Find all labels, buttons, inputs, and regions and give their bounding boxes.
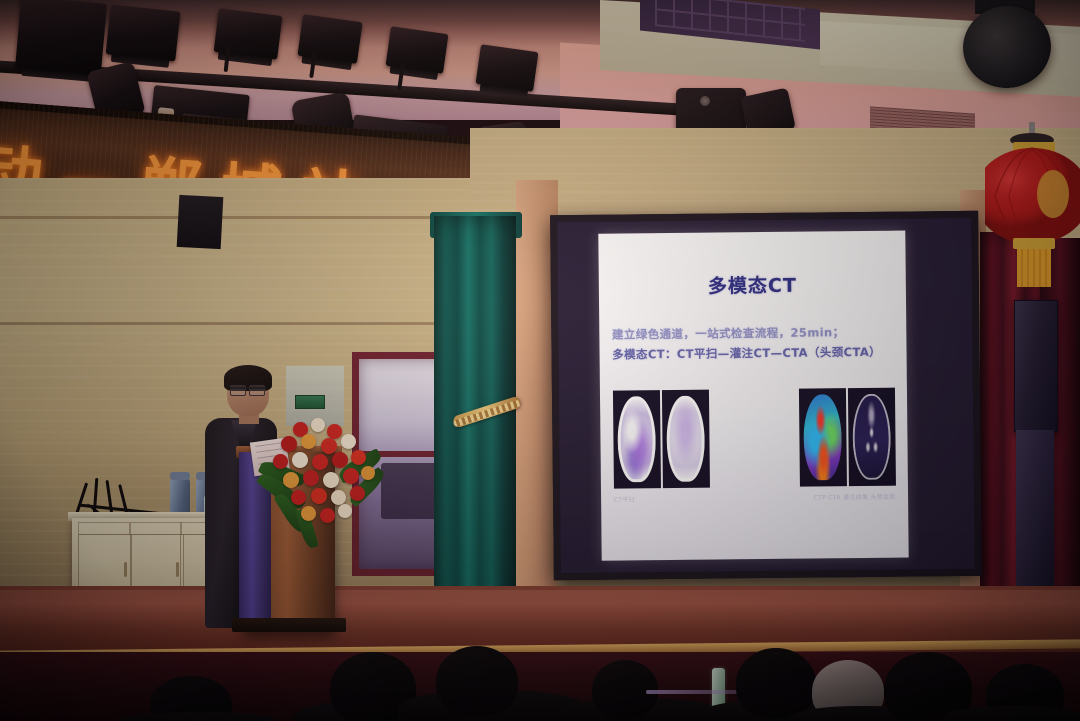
audience-shoulders xyxy=(944,706,1080,721)
left-wall-speaker xyxy=(177,195,224,249)
presentation-slide: 多模态CT 建立绿色通道，一站式检查流程，25min； 多模态CT：CT平扫—灌… xyxy=(599,231,909,561)
thermos-cap xyxy=(170,472,190,480)
flower-bloom xyxy=(301,506,316,521)
ct-perfusion-cta-pair xyxy=(798,388,895,487)
flower-bloom xyxy=(301,434,316,449)
ct-plain-right-image xyxy=(662,390,710,488)
flower-bloom xyxy=(312,454,328,470)
chinese-lantern-icon xyxy=(985,122,1080,292)
cabinet-handle[interactable] xyxy=(176,562,179,577)
audience-head xyxy=(592,660,658,718)
ct-angiography-image xyxy=(847,388,895,486)
slide-title: 多模态CT xyxy=(599,270,906,300)
flower-bloom xyxy=(321,438,337,454)
window-silhouette xyxy=(381,463,441,519)
cabinet-handle[interactable] xyxy=(124,562,127,577)
flower-bloom xyxy=(343,468,359,484)
stage-floor-reflection xyxy=(0,590,1080,638)
stage-light-icon xyxy=(106,4,181,61)
flower-bloom xyxy=(303,470,319,486)
flower-bloom xyxy=(273,454,288,469)
wall-seam xyxy=(0,216,470,219)
slide-captions: CT平扫 CTP-CTA 灌注成像 头颈血管 xyxy=(614,492,896,504)
caption-right: CTP-CTA 灌注成像 头颈血管 xyxy=(814,492,896,502)
ct-plain-left-image xyxy=(613,390,661,488)
slide-body-line-1: 建立绿色通道，一站式检查流程，25min； xyxy=(612,324,897,343)
flower-bloom xyxy=(361,466,375,480)
flower-bloom xyxy=(350,486,365,501)
flower-bloom xyxy=(291,490,306,505)
flower-bloom xyxy=(323,472,339,488)
flower-bloom xyxy=(327,424,342,439)
flower-bloom xyxy=(351,450,366,465)
conference-hall-photo: 动—郸城站 xyxy=(0,0,1080,721)
caption-left: CT平扫 xyxy=(614,495,635,504)
flower-bloom xyxy=(281,436,297,452)
projection-screen: 多模态CT 建立绿色通道，一站式检查流程，25min； 多模态CT：CT平扫—灌… xyxy=(550,211,982,580)
glasses-bridge xyxy=(230,387,266,396)
lectern-base xyxy=(232,618,346,632)
slide-body-line-2: 多模态CT：CT平扫—灌注CT—CTA（头颈CTA） xyxy=(612,344,897,363)
flower-bloom xyxy=(311,418,325,432)
stage-light-icon xyxy=(475,44,538,92)
floral-arrangement xyxy=(265,418,385,558)
flower-bloom xyxy=(338,504,352,518)
stage-light-icon xyxy=(385,26,448,74)
flower-bloom xyxy=(283,472,299,488)
lamp-lens-icon xyxy=(700,96,710,106)
stage-light-icon xyxy=(15,0,107,76)
flower-bloom xyxy=(292,452,308,468)
flower-bloom xyxy=(311,488,327,504)
emergency-exit-sign xyxy=(295,395,325,409)
stage-light-icon xyxy=(214,8,283,59)
stage-light-icon xyxy=(297,14,362,64)
slide-image-row xyxy=(613,388,896,489)
audience-water-bottle xyxy=(712,668,725,708)
flower-bloom xyxy=(320,508,335,523)
ct-perfusion-image xyxy=(798,388,846,486)
wall-speaker-top xyxy=(1014,300,1058,432)
ct-plain-pair xyxy=(613,390,710,489)
audience-head xyxy=(736,648,816,718)
wall-seam xyxy=(0,322,470,325)
flower-bloom xyxy=(341,434,356,449)
cable xyxy=(106,480,114,516)
flower-bloom xyxy=(331,490,346,505)
audience-head xyxy=(436,646,518,716)
flower-bloom xyxy=(332,452,348,468)
